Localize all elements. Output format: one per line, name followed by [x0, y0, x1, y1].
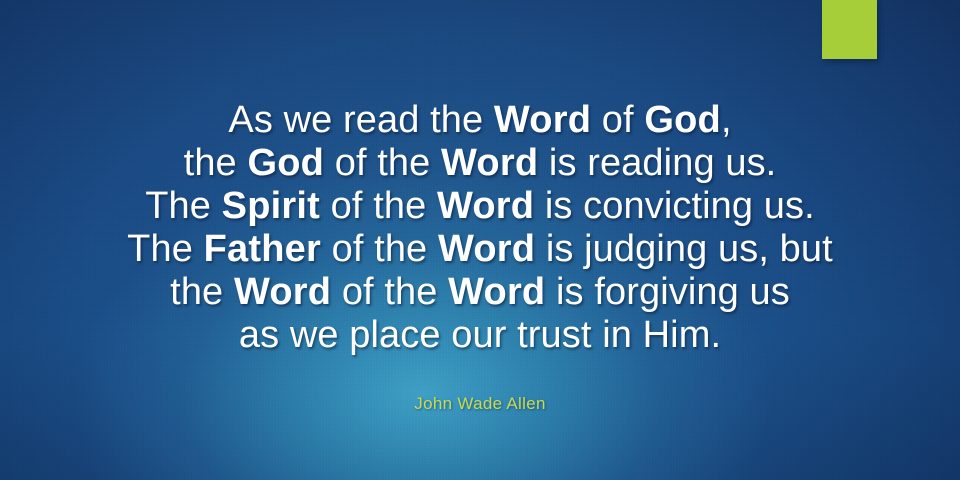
quote-emphasis: God [247, 142, 324, 184]
quote-emphasis: Word [494, 99, 591, 141]
quote-emphasis: Word [441, 142, 538, 184]
quote-emphasis: Father [204, 228, 321, 270]
quote-run: of the [320, 185, 437, 227]
quote-run: as we place our trust in Him. [239, 314, 721, 356]
quote-run: of the [331, 271, 448, 313]
quote-emphasis: Word [234, 271, 331, 313]
quote-line: the God of the Word is reading us. [0, 142, 960, 185]
quote-emphasis: Word [438, 228, 535, 270]
green-accent-rectangle [822, 0, 877, 59]
quote-line: The Father of the Word is judging us, bu… [0, 228, 960, 271]
quote-run: As we read the [228, 99, 494, 141]
quote-run: of [591, 99, 644, 141]
quote-emphasis: Word [437, 185, 534, 227]
quote-run: of the [324, 142, 441, 184]
quote-run: is judging us, but [535, 228, 833, 270]
quote-attribution: John Wade Allen [0, 393, 960, 415]
quote-emphasis: Word [448, 271, 545, 313]
quote-run: , [721, 99, 732, 141]
quote-run: The [127, 228, 203, 270]
quote-line: As we read the Word of God, [0, 99, 960, 142]
quote-run: the [184, 142, 248, 184]
quote-run: the [170, 271, 234, 313]
quote-run: The [145, 185, 221, 227]
quote-emphasis: Spirit [222, 185, 320, 227]
quote-emphasis: God [644, 99, 721, 141]
quote-run: is reading us. [538, 142, 776, 184]
quote-run: is forgiving us [545, 271, 789, 313]
quote-line: the Word of the Word is forgiving us [0, 271, 960, 314]
quote-line: as we place our trust in Him. [0, 314, 960, 357]
quote-line: The Spirit of the Word is convicting us. [0, 185, 960, 228]
quote-slide: As we read the Word of God,the God of th… [0, 0, 960, 480]
quote-run: is convicting us. [534, 185, 815, 227]
quote-text: As we read the Word of God,the God of th… [0, 99, 960, 357]
quote-run: of the [321, 228, 438, 270]
